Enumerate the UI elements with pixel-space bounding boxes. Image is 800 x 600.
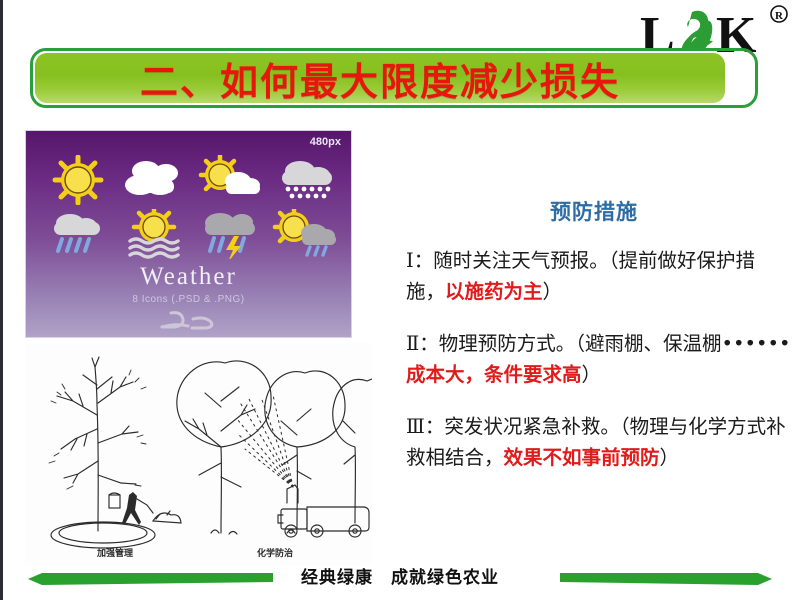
registered-trademark-icon: R	[771, 6, 787, 22]
page-title: 二、如何最大限度减少损失	[35, 53, 725, 103]
cloud-hail-icon	[268, 155, 344, 205]
weather-image-subtitle: 8 Icons (.PSD & .PNG)	[26, 294, 351, 305]
measure-2-text-after: ）	[582, 363, 602, 386]
measure-item-3: Ⅲ：突发状况紧急补救。（物理与化学方式补救相结合，效果不如事前预防）	[396, 412, 792, 473]
weather-size-badge: 480px	[310, 136, 341, 148]
measure-item-2: Ⅱ：物理预防方式。（避雨棚、保温棚••••••成本大，条件要求高）	[396, 329, 792, 390]
sketch-caption-right: 化学防治	[257, 546, 293, 559]
bp-watermark-icon	[26, 309, 351, 338]
weather-icons-image: 480px	[25, 130, 352, 338]
measure-3-text-after: ）	[660, 446, 680, 469]
content-heading: 预防措施	[396, 196, 792, 226]
cloud-rain-icon	[40, 209, 116, 259]
svg-text:R: R	[775, 10, 784, 22]
sun-icon	[40, 155, 116, 205]
measure-1-numeral: Ⅰ	[406, 251, 414, 272]
weather-image-title: Weather	[26, 263, 351, 291]
measure-1-text-after: ）	[543, 280, 563, 303]
measure-2-numeral: Ⅱ	[406, 334, 419, 355]
measure-3-numeral: Ⅲ	[406, 417, 425, 438]
slide-left-edge	[0, 0, 3, 600]
footer-slogan-left: 经典绿康	[301, 568, 373, 588]
content-column: 预防措施 Ⅰ：随时关注天气预报。（提前做好保护措施，以施药为主） Ⅱ：物理预防方…	[396, 196, 792, 495]
measure-2-highlight: 成本大，条件要求高	[406, 363, 582, 386]
footer-slogan: 经典绿康成就绿色农业	[0, 563, 800, 588]
cloud-thunder-icon	[192, 209, 268, 259]
measure-3-highlight: 效果不如事前预防	[504, 446, 660, 469]
sketch-drawing	[25, 343, 372, 565]
title-banner-fill: 二、如何最大限度减少损失	[35, 53, 725, 103]
sun-fog-icon	[116, 209, 192, 259]
clouds-icon	[116, 155, 192, 205]
sun-cloud-rain-icon	[268, 209, 344, 259]
title-banner: 二、如何最大限度减少损失	[30, 48, 760, 110]
measure-item-1: Ⅰ：随时关注天气预报。（提前做好保护措施，以施药为主）	[396, 246, 792, 307]
sun-cloud-icon	[192, 155, 268, 205]
measure-2-text-before: ：物理预防方式。（避雨棚、保温棚••••••	[419, 332, 790, 355]
slide-root: L K R 二、如何最大限度减少损失 480px	[0, 0, 800, 600]
weather-icon-grid	[40, 155, 340, 259]
orchard-management-sketch: 加强管理 化学防治	[25, 343, 372, 565]
measure-1-highlight: 以施药为主	[445, 280, 543, 303]
sketch-caption-left: 加强管理	[97, 546, 133, 559]
footer-slogan-right: 成就绿色农业	[391, 568, 499, 588]
